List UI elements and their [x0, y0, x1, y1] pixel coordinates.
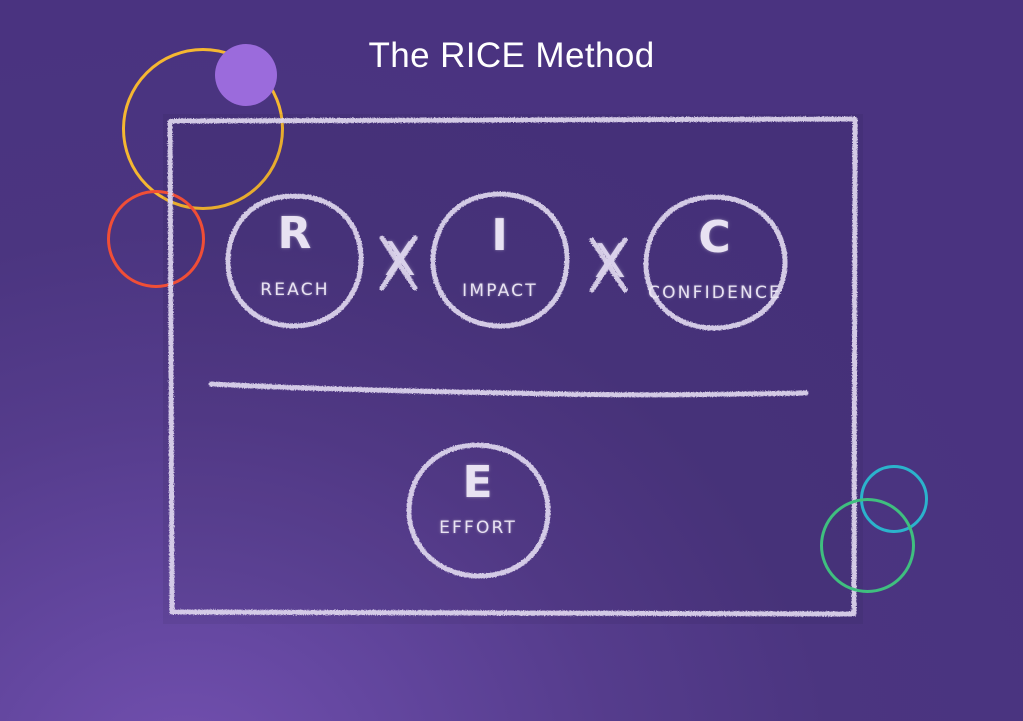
page-title: The RICE Method [0, 36, 1023, 76]
confidence-label: CONFIDENCE [638, 283, 792, 303]
multiply-operator-1: X [378, 232, 422, 286]
green-ring-decoration [820, 498, 915, 593]
multiply-operator-2: X [588, 234, 632, 288]
slide-canvas: The RICE Method [0, 0, 1023, 721]
impact-label: IMPACT [429, 281, 571, 301]
effort-label: EFFORT [405, 518, 551, 538]
confidence-letter: C [650, 212, 780, 263]
impact-letter: I [436, 210, 564, 261]
reach-label: REACH [226, 280, 364, 300]
reach-letter: R [231, 208, 359, 259]
chalkboard-panel [163, 114, 863, 624]
red-ring-decoration [107, 190, 205, 288]
effort-letter: E [413, 457, 543, 508]
